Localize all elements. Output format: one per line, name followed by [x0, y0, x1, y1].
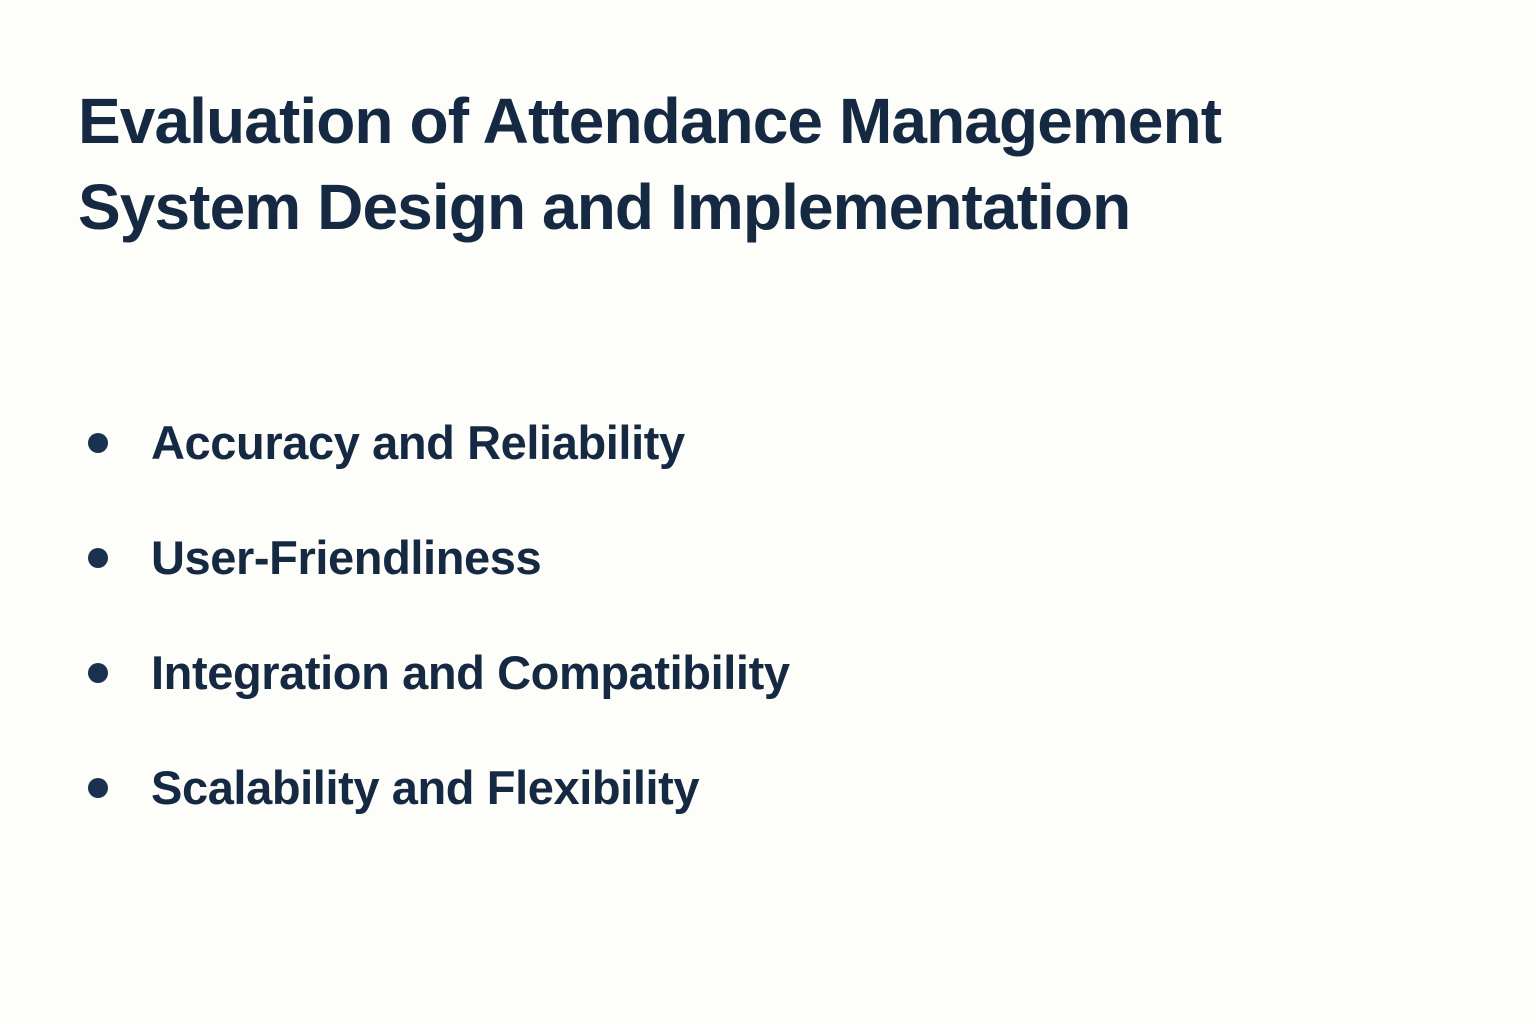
list-item: Accuracy and Reliability: [78, 408, 1378, 478]
list-item-label: Accuracy and Reliability: [151, 413, 685, 473]
bullet-dot-icon: [88, 778, 108, 798]
bullet-dot-icon: [88, 663, 108, 683]
list-item: Scalability and Flexibility: [78, 753, 1378, 823]
bullet-dot-icon: [88, 548, 108, 568]
page-title: Evaluation of Attendance Management Syst…: [78, 78, 1348, 250]
bullet-list: Accuracy and Reliability User-Friendline…: [78, 408, 1378, 823]
list-item-label: User-Friendliness: [151, 528, 541, 588]
list-item: User-Friendliness: [78, 523, 1378, 593]
list-item-label: Scalability and Flexibility: [151, 758, 699, 818]
list-item: Integration and Compatibility: [78, 638, 1378, 708]
list-item-label: Integration and Compatibility: [151, 643, 790, 703]
bullet-dot-icon: [88, 433, 108, 453]
slide-canvas: Evaluation of Attendance Management Syst…: [0, 0, 1536, 1024]
